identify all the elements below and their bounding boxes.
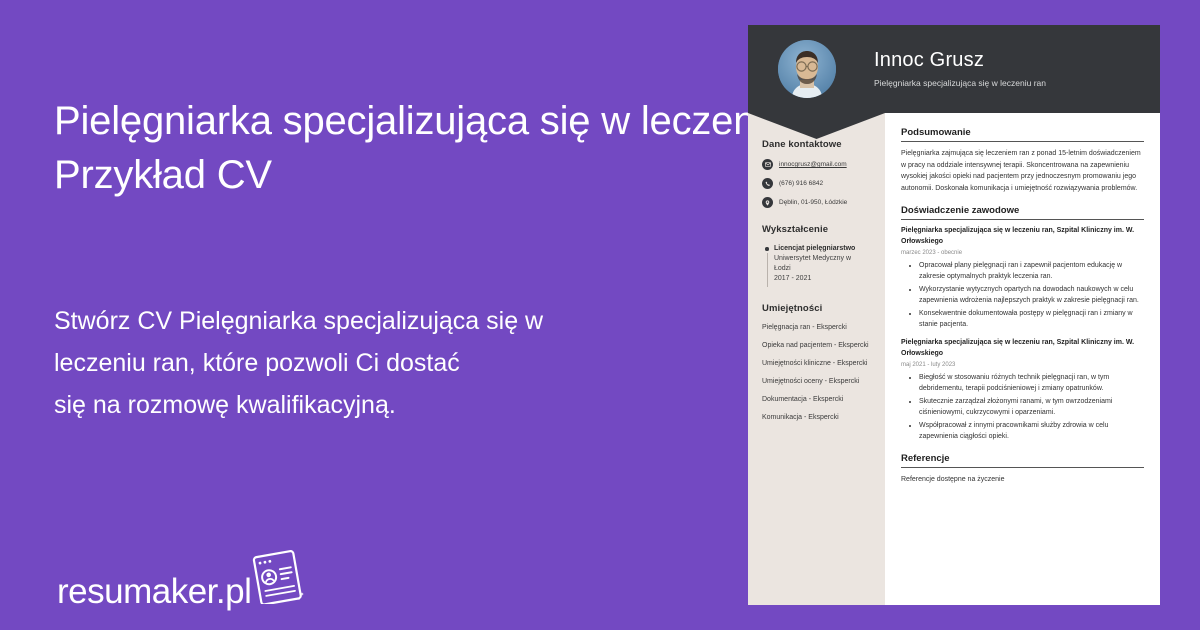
resumaker-logo[interactable]: resumaker.pl xyxy=(57,548,307,611)
education-heading: Wykształcenie xyxy=(762,224,871,235)
job-bullet: Biegłość w stosowaniu różnych technik pi… xyxy=(919,372,1144,394)
promo-panel: Pielęgniarka specjalizująca się w leczen… xyxy=(0,0,760,630)
contact-row-address: Dęblin, 01-950, Łódzkie xyxy=(762,197,871,208)
subtext-line-2: leczeniu ran, które pozwoli Ci dostać xyxy=(54,342,654,384)
cv-identity: Innoc Grusz Pielęgniarka specjalizująca … xyxy=(874,48,1046,90)
job-bullet: Opracował plany pielęgnacji ran i zapewn… xyxy=(919,260,1144,282)
headline-line-1: Pielęgniarka specjalizująca się w leczen… xyxy=(54,94,814,148)
job-bullet: Współpracował z innymi pracownikami służ… xyxy=(919,420,1144,442)
education-item: Licencjat pielęgniarstwo Uniwersytet Med… xyxy=(762,244,871,287)
summary-text: Pielęgniarka zajmująca się leczeniem ran… xyxy=(901,148,1144,194)
skills-section: Umiejętności Pielęgnacja ran - Ekspercki… xyxy=(762,303,871,423)
contact-row-email[interactable]: innocgrusz@gmail.com xyxy=(762,159,871,170)
cv-body: Dane kontaktowe innocgrusz@gmail.com xyxy=(748,113,1160,605)
education-school-line-1: Uniwersytet Medyczny w xyxy=(774,254,855,264)
experience-heading: Doświadczenie zawodowe xyxy=(901,205,1144,216)
skills-heading: Umiejętności xyxy=(762,303,871,314)
skill-item: Komunikacja - Ekspercki xyxy=(762,413,871,423)
contact-phone: (676) 916 6842 xyxy=(779,179,823,188)
skill-item: Dokumentacja - Ekspercki xyxy=(762,395,871,405)
cv-header: Innoc Grusz Pielęgniarka specjalizująca … xyxy=(748,25,1160,113)
cv-role: Pielęgniarka specjalizująca się w leczen… xyxy=(874,77,1046,90)
job-dates: maj 2021 - luty 2023 xyxy=(901,360,1144,370)
skill-item: Umiejętności kliniczne - Ekspercki xyxy=(762,359,871,369)
job-dates: marzec 2023 - obecnie xyxy=(901,248,1144,258)
cv-name: Innoc Grusz xyxy=(874,48,1046,72)
job-bullet: Skutecznie zarządzał złożonymi ranami, w… xyxy=(919,396,1144,418)
subtext-line-3: się na rozmowę kwalifikacyjną. xyxy=(54,384,654,426)
job-bullet: Wykorzystanie wytycznych opartych na dow… xyxy=(919,284,1144,306)
summary-section: Podsumowanie Pielęgniarka zajmująca się … xyxy=(901,127,1144,194)
contact-section: Dane kontaktowe innocgrusz@gmail.com xyxy=(762,139,871,208)
education-degree: Licencjat pielęgniarstwo xyxy=(774,244,855,254)
page-title: Pielęgniarka specjalizująca się w leczen… xyxy=(54,94,814,202)
section-divider xyxy=(901,141,1144,142)
job-bullet: Konsekwentnie dokumentowała postępy w pi… xyxy=(919,308,1144,330)
experience-item: Pielęgniarka specjalizująca się w leczen… xyxy=(901,338,1144,442)
cv-preview-card[interactable]: Innoc Grusz Pielęgniarka specjalizująca … xyxy=(748,25,1160,605)
logo-wordmark: resumaker.pl xyxy=(57,573,251,611)
job-bullets: Opracował plany pielęgnacji ran i zapewn… xyxy=(901,260,1144,330)
contact-heading: Dane kontaktowe xyxy=(762,139,871,150)
job-title: Pielęgniarka specjalizująca się w leczen… xyxy=(901,226,1144,247)
section-divider xyxy=(901,467,1144,468)
location-pin-icon xyxy=(762,197,773,208)
references-section: Referencje Referencje dostępne na życzen… xyxy=(901,453,1144,485)
contact-email[interactable]: innocgrusz@gmail.com xyxy=(779,160,847,169)
references-text: Referencje dostępne na życzenie xyxy=(901,474,1144,485)
education-section: Wykształcenie Licencjat pielęgniarstwo U… xyxy=(762,224,871,287)
bullet-dot-icon xyxy=(765,247,769,251)
skill-item: Pielęgnacja ran - Ekspercki xyxy=(762,323,871,333)
subtext-line-1: Stwórz CV Pielęgniarka specjalizująca si… xyxy=(54,300,654,342)
education-content: Licencjat pielęgniarstwo Uniwersytet Med… xyxy=(772,244,855,284)
promo-subtext: Stwórz CV Pielęgniarka specjalizująca si… xyxy=(54,300,654,426)
summary-heading: Podsumowanie xyxy=(901,127,1144,138)
cv-main-column: Podsumowanie Pielęgniarka zajmująca się … xyxy=(885,113,1160,605)
cv-sidebar: Dane kontaktowe innocgrusz@gmail.com xyxy=(748,113,885,605)
contact-address: Dęblin, 01-950, Łódzkie xyxy=(779,198,847,207)
section-divider xyxy=(901,219,1144,220)
skill-item: Umiejętności oceny - Ekspercki xyxy=(762,377,871,387)
education-dates: 2017 - 2021 xyxy=(774,274,855,284)
contact-row-phone[interactable]: (676) 916 6842 xyxy=(762,178,871,189)
education-school-line-2: Łodzi xyxy=(774,264,855,274)
education-timeline xyxy=(762,244,772,287)
envelope-icon xyxy=(762,159,773,170)
headline-line-2: Przykład CV xyxy=(54,148,814,202)
phone-icon xyxy=(762,178,773,189)
skill-item: Opieka nad pacjentem - Ekspercki xyxy=(762,341,871,351)
avatar xyxy=(778,40,836,98)
timeline-line xyxy=(767,253,768,287)
job-title: Pielęgniarka specjalizująca się w leczen… xyxy=(901,338,1144,359)
experience-item: Pielęgniarka specjalizująca się w leczen… xyxy=(901,226,1144,330)
experience-section: Doświadczenie zawodowe Pielęgniarka spec… xyxy=(901,205,1144,442)
job-bullets: Biegłość w stosowaniu różnych technik pi… xyxy=(901,372,1144,442)
references-heading: Referencje xyxy=(901,453,1144,464)
resume-document-icon xyxy=(245,548,307,609)
